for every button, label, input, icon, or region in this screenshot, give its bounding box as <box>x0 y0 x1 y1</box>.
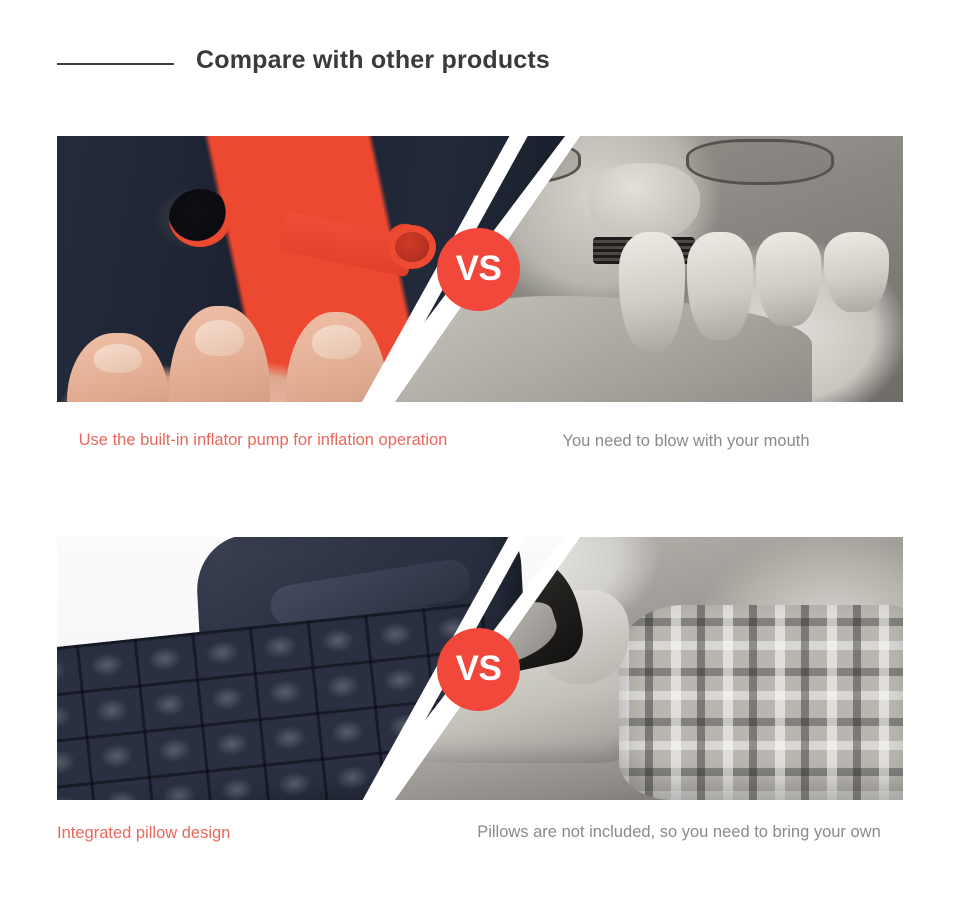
plaid-shirt <box>619 605 903 800</box>
fingernail <box>195 320 244 356</box>
nose <box>588 163 700 243</box>
glasses-lens-right <box>686 139 834 185</box>
finger <box>619 232 684 351</box>
hand <box>613 232 897 370</box>
finger <box>687 232 752 340</box>
fingernail <box>312 325 361 360</box>
vs-badge-label: VS <box>456 251 502 286</box>
vs-badge: VS <box>437 628 520 711</box>
comparison-row-inflation: VS <box>57 136 903 402</box>
finger <box>67 333 169 402</box>
caption-left-pillow: Integrated pillow design <box>57 822 469 845</box>
caption-right-inflation: You need to blow with your mouth <box>469 430 903 453</box>
vs-badge-label: VS <box>456 651 502 686</box>
pump-cap <box>395 232 429 262</box>
finger <box>824 232 889 312</box>
finger <box>756 232 821 326</box>
vs-badge: VS <box>437 228 520 311</box>
page-header: Compare with other products <box>0 0 960 120</box>
pump-port-icon <box>169 189 231 247</box>
header-rule-decoration <box>57 63 174 65</box>
fingernail <box>94 344 143 373</box>
comparison-row-pillow: VS <box>57 537 903 800</box>
caption-right-pillow: Pillows are not included, so you need to… <box>455 821 903 844</box>
caption-left-inflation: Use the built-in inflator pump for infla… <box>57 429 469 452</box>
page-title: Compare with other products <box>196 46 550 75</box>
finger <box>169 306 271 402</box>
